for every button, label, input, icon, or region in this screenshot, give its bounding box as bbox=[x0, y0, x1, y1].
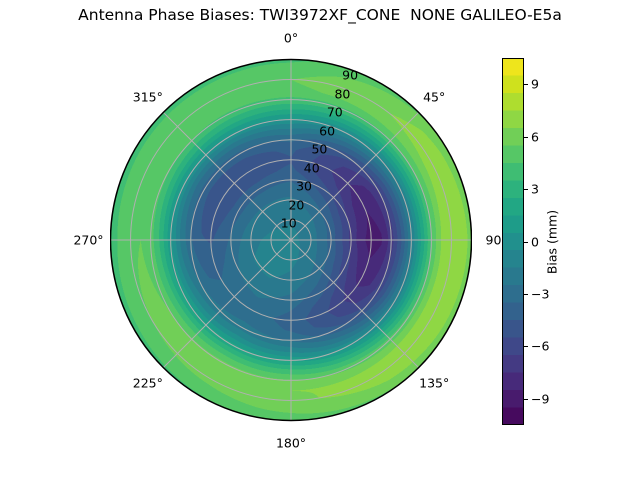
polar-angle-label-180: 180° bbox=[276, 435, 306, 450]
polar-radial-label-10: 10 bbox=[281, 216, 297, 231]
polar-plot[interactable]: 0°45°90135°180°225°270°315°1020304050607… bbox=[110, 58, 472, 422]
colorbar-axis-label: Bias (mm) bbox=[545, 210, 560, 274]
colorbar-tick--9 bbox=[524, 399, 528, 400]
colorbar-tick-label--6: −6 bbox=[531, 339, 549, 354]
colorbar-tick-label-0: 0 bbox=[531, 234, 539, 249]
polar-radial-label-70: 70 bbox=[327, 105, 343, 120]
colorbar[interactable]: −9−6−30369 bbox=[502, 58, 524, 425]
polar-radial-label-30: 30 bbox=[296, 179, 312, 194]
page-title: Antenna Phase Biases: TWI3972XF_CONE NON… bbox=[0, 6, 640, 24]
polar-angle-label-315: 315° bbox=[133, 89, 163, 104]
polar-radial-label-60: 60 bbox=[319, 123, 335, 138]
figure-canvas: Antenna Phase Biases: TWI3972XF_CONE NON… bbox=[0, 0, 640, 480]
colorbar-tick-9 bbox=[524, 84, 528, 85]
colorbar-tick-label-3: 3 bbox=[531, 182, 539, 197]
polar-field bbox=[110, 58, 472, 422]
polar-angle-label-270: 270° bbox=[73, 233, 103, 248]
colorbar-tick-6 bbox=[524, 137, 528, 138]
polar-radial-label-80: 80 bbox=[334, 86, 350, 101]
colorbar-tick-label--3: −3 bbox=[531, 286, 549, 301]
polar-radial-label-40: 40 bbox=[304, 160, 320, 175]
polar-angle-label-225: 225° bbox=[133, 376, 163, 391]
colorbar-tick-label-9: 9 bbox=[531, 77, 539, 92]
colorbar-tick--6 bbox=[524, 346, 528, 347]
polar-radial-label-20: 20 bbox=[288, 197, 304, 212]
polar-angle-label-90: 90 bbox=[486, 233, 502, 248]
polar-angle-label-135: 135° bbox=[419, 376, 449, 391]
colorbar-tick-3 bbox=[524, 189, 528, 190]
polar-radial-label-50: 50 bbox=[311, 142, 327, 157]
colorbar-tick-label-6: 6 bbox=[531, 129, 539, 144]
polar-angle-label-45: 45° bbox=[423, 89, 445, 104]
colorbar-tick--3 bbox=[524, 294, 528, 295]
polar-angle-label-0: 0° bbox=[284, 30, 298, 45]
colorbar-tick-0 bbox=[524, 242, 528, 243]
colorbar-tick-label--9: −9 bbox=[531, 391, 549, 406]
colorbar-gradient bbox=[502, 58, 524, 425]
polar-radial-label-90: 90 bbox=[342, 68, 358, 83]
